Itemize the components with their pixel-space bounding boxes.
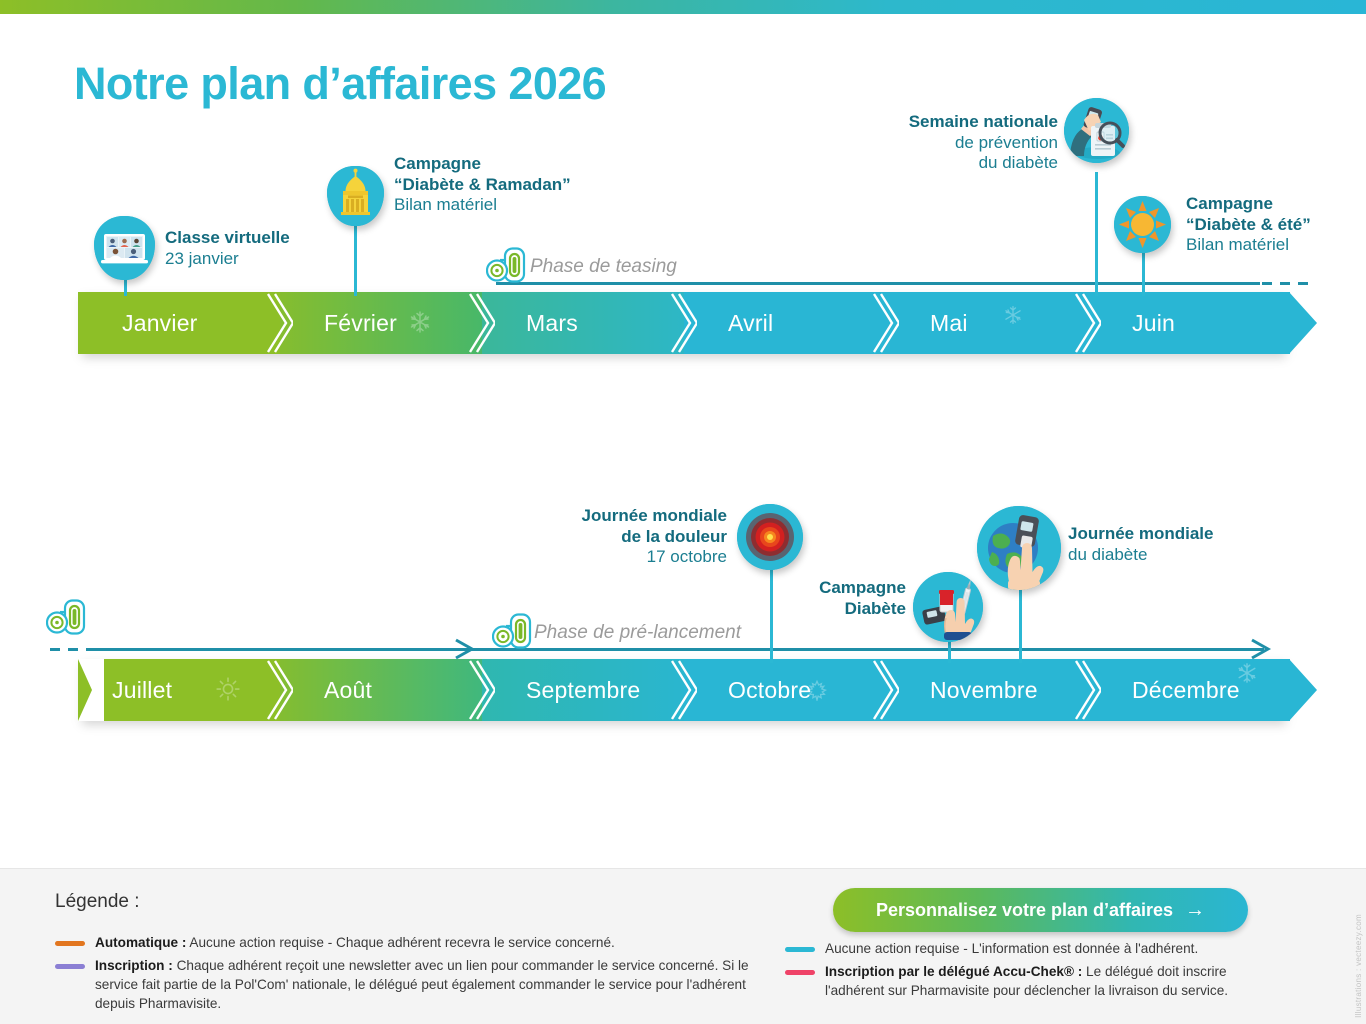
- marker-label-diabete-ete: Campagne “Diabète & été” Bilan matériel: [1186, 194, 1311, 256]
- legend-desc: Aucune action requise - L'information es…: [825, 941, 1198, 956]
- axis-arrow-end: [1248, 638, 1274, 665]
- month-label: Février: [280, 310, 397, 337]
- month-label: Avril: [684, 310, 773, 337]
- blood-test-hand-icon: [913, 572, 983, 642]
- marker-subtitle: Bilan matériel: [394, 195, 571, 216]
- axis-line-1: [496, 282, 1260, 285]
- bar-notch-tail: [78, 659, 104, 721]
- marker-subtitle: 17 octobre: [505, 547, 727, 568]
- legend-desc: Chaque adhérent reçoit une newsletter av…: [95, 958, 749, 1011]
- mosque-icon: [327, 166, 384, 226]
- month-label: Octobre: [684, 677, 811, 704]
- month-label: Décembre: [1088, 677, 1240, 704]
- virtual-class-icon: [94, 216, 155, 280]
- marker-subtitle: Bilan matériel: [1186, 235, 1311, 256]
- marker-title: Campagne: [1186, 194, 1311, 215]
- marker-title: Journée mondiale: [1068, 524, 1213, 545]
- legend-swatch-pink: [785, 970, 815, 975]
- legend-label: Automatique :: [95, 935, 186, 950]
- month-novembre[interactable]: Novembre: [886, 659, 1088, 721]
- illustration-credit: Illustrations : vecteezy.com: [1354, 914, 1363, 1018]
- month-avril[interactable]: Avril: [684, 292, 886, 354]
- month-label: Mars: [482, 310, 578, 337]
- marker-label-campagne-diabete: Campagne Diabète: [690, 578, 906, 619]
- month-mai[interactable]: Mai: [886, 292, 1088, 354]
- marker-title: Campagne: [394, 154, 571, 175]
- month-janvier[interactable]: Janvier: [78, 292, 280, 354]
- legend-label: Inscription par le délégué Accu-Chek® :: [825, 964, 1082, 979]
- marker-label-journee-douleur: Journée mondiale de la douleur 17 octobr…: [505, 506, 727, 568]
- marker-stem: [1095, 172, 1098, 296]
- month-label: Juin: [1088, 310, 1175, 337]
- legend-item-automatique: Automatique : Aucune action requise - Ch…: [55, 933, 755, 952]
- marker-title-2: de la douleur: [505, 527, 727, 548]
- legend-text: Inscription : Chaque adhérent reçoit une…: [95, 956, 755, 1013]
- sun-icon: [215, 676, 241, 708]
- legend-desc: Aucune action requise - Chaque adhérent …: [186, 935, 614, 950]
- month-octobre[interactable]: Octobre: [684, 659, 886, 721]
- marker-title-2: “Diabète & été”: [1186, 215, 1311, 236]
- month-label: Janvier: [78, 310, 198, 337]
- marker-title: Semaine nationale: [818, 112, 1058, 133]
- marker-title: Journée mondiale: [505, 506, 727, 527]
- marker-label-journee-diabete: Journée mondiale du diabète: [1068, 524, 1213, 565]
- glucometer-icon: [486, 246, 526, 289]
- marker-stem: [1142, 246, 1145, 296]
- phase-label-pre-lancement: Phase de pré-lancement: [534, 622, 741, 644]
- month-label: Mai: [886, 310, 968, 337]
- legend-heading: Légende :: [55, 891, 140, 913]
- bar-arrow-head: [1289, 659, 1317, 721]
- bar-arrow-head: [1289, 292, 1317, 354]
- glucometer-icon: [492, 612, 532, 655]
- phase-label-teasing: Phase de teasing: [530, 256, 677, 278]
- pain-target-icon: [737, 504, 803, 570]
- axis-arrow-mid: [452, 638, 478, 665]
- month-bar-first-half: Janvier Février Mars: [78, 292, 1290, 354]
- axis-line-2b: [494, 648, 1264, 651]
- legend-item-inscription-delegue: Inscription par le délégué Accu-Chek® : …: [785, 962, 1275, 1000]
- legend-label: Inscription :: [95, 958, 173, 973]
- month-juillet[interactable]: Juillet: [78, 659, 280, 721]
- legend-swatch-orange: [55, 941, 85, 946]
- legend-swatch-teal: [785, 947, 815, 952]
- month-decembre[interactable]: Décembre: [1088, 659, 1290, 721]
- month-label: Août: [280, 677, 372, 704]
- legend-swatch-purple: [55, 964, 85, 969]
- legend-text: Inscription par le délégué Accu-Chek® : …: [825, 962, 1275, 1000]
- legend-text: Aucune action requise - L'information es…: [825, 939, 1198, 958]
- marker-subtitle: du diabète: [1068, 545, 1213, 566]
- legend-text: Automatique : Aucune action requise - Ch…: [95, 933, 615, 952]
- marker-title-2: Diabète: [690, 599, 906, 620]
- month-juin[interactable]: Juin: [1088, 292, 1290, 354]
- snowflake-icon: [1003, 304, 1023, 331]
- glucose-test-report-icon: [1064, 98, 1129, 163]
- month-mars[interactable]: Mars: [482, 292, 684, 354]
- marker-label-ramadan: Campagne “Diabète & Ramadan” Bilan matér…: [394, 154, 571, 216]
- page-title: Notre plan d’affaires 2026: [74, 58, 606, 110]
- axis-line-2a: [90, 648, 494, 651]
- marker-subtitle: de prévention: [818, 133, 1058, 154]
- legend-item-inscription: Inscription : Chaque adhérent reçoit une…: [55, 956, 755, 1013]
- month-aout[interactable]: Août: [280, 659, 482, 721]
- marker-stem: [1019, 588, 1022, 663]
- axis-dash-2: [50, 648, 90, 651]
- axis-dash-1: [1262, 282, 1308, 285]
- marker-title: Classe virtuelle: [165, 228, 290, 249]
- marker-subtitle-2: du diabète: [818, 153, 1058, 174]
- marker-title-2: “Diabète & Ramadan”: [394, 175, 571, 196]
- personalize-plan-button[interactable]: Personnalisez votre plan d’affaires →: [833, 888, 1248, 932]
- marker-label-semaine-prevention: Semaine nationale de prévention du diabè…: [818, 112, 1058, 174]
- month-label: Septembre: [482, 677, 640, 704]
- glucometer-icon: [46, 598, 86, 641]
- legend-item-aucune-action: Aucune action requise - L'information es…: [785, 939, 1275, 958]
- month-septembre[interactable]: Septembre: [482, 659, 684, 721]
- month-fevrier[interactable]: Février: [280, 292, 482, 354]
- sun-icon: [1114, 196, 1171, 253]
- marker-title: Campagne: [690, 578, 906, 599]
- month-bar-second-half: Juillet Août Septembre: [78, 659, 1290, 721]
- cta-label: Personnalisez votre plan d’affaires: [876, 900, 1173, 921]
- snowflake-icon: [408, 310, 432, 340]
- infographic-page: Notre plan d’affaires 2026 Phase de teas…: [0, 0, 1366, 1024]
- marker-label-classe-virtuelle: Classe virtuelle 23 janvier: [165, 228, 290, 269]
- month-label: Novembre: [886, 677, 1038, 704]
- marker-subtitle: 23 janvier: [165, 249, 290, 270]
- top-gradient-bar: [0, 0, 1366, 14]
- arrow-right-icon: →: [1185, 899, 1205, 922]
- world-diabetes-icon: [977, 506, 1061, 590]
